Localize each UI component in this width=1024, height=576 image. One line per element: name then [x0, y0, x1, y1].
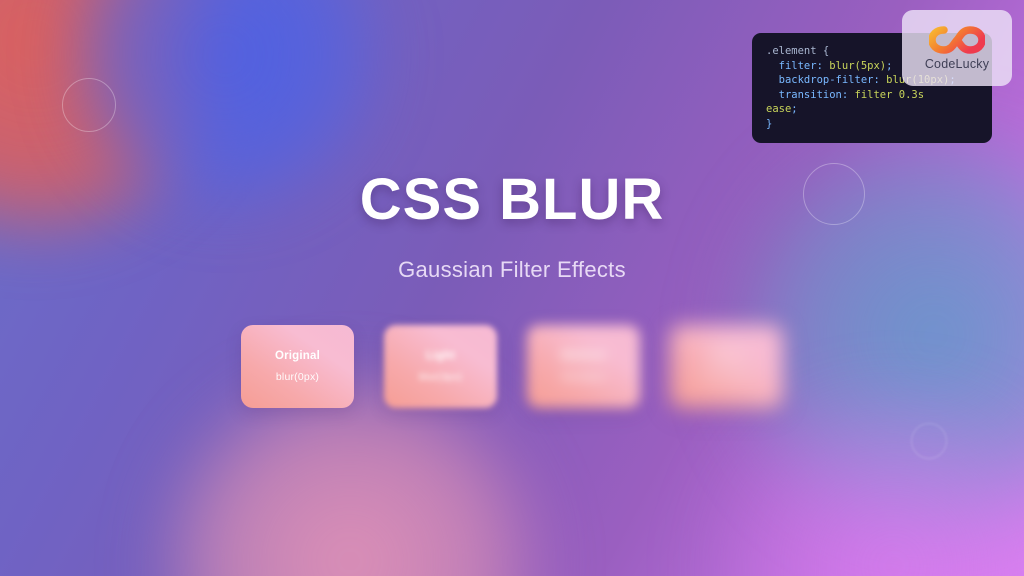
hero-section: CSS BLUR Gaussian Filter Effects	[0, 170, 1024, 283]
code-token-selector: .element {	[766, 45, 829, 57]
page-subtitle: Gaussian Filter Effects	[0, 257, 1024, 283]
card-title: Heavy	[709, 350, 744, 362]
watermark-label: CodeLucky	[925, 57, 989, 71]
card-title: Light	[426, 350, 455, 362]
code-token-punctuation: ;	[886, 60, 892, 72]
decorative-ring-bottom-right	[911, 423, 947, 459]
blur-demo-card-list: Original blur(0px) Light blur(3px) Mediu…	[0, 325, 1024, 408]
code-token-value: blur(5px)	[823, 60, 886, 72]
blur-demo-card-light[interactable]: Light blur(3px)	[384, 325, 497, 408]
blur-demo-card-heavy[interactable]: Heavy blur(10px)	[670, 325, 783, 408]
card-value: blur(3px)	[419, 371, 462, 383]
code-token-value: ease	[766, 103, 791, 115]
page-title: CSS BLUR	[0, 170, 1024, 231]
blur-demo-card-medium[interactable]: Medium blur(6px)	[527, 325, 640, 408]
watermark-badge: CodeLucky	[902, 10, 1012, 86]
card-value: blur(0px)	[276, 371, 319, 383]
infinity-icon	[929, 25, 985, 55]
code-line: }	[752, 117, 992, 132]
blur-demo-card-original[interactable]: Original blur(0px)	[241, 325, 354, 408]
decorative-ring-top-left	[62, 78, 116, 132]
card-value: blur(6px)	[562, 371, 605, 383]
card-title: Medium	[561, 350, 606, 362]
card-value: blur(10px)	[702, 371, 751, 383]
slide-canvas: CSS BLUR Gaussian Filter Effects Origina…	[0, 0, 1024, 576]
code-line: transition: filter 0.3s	[752, 88, 992, 103]
code-token-value: filter 0.3s	[848, 89, 924, 101]
code-token-brace: }	[766, 118, 772, 130]
code-line: ease;	[752, 102, 992, 117]
code-token-property: filter:	[766, 60, 823, 72]
code-token-property: backdrop-filter:	[766, 74, 880, 86]
card-title: Original	[275, 350, 320, 362]
code-token-punctuation: ;	[791, 103, 797, 115]
background-blob-violet	[704, 396, 1024, 576]
code-token-property: transition:	[766, 89, 848, 101]
